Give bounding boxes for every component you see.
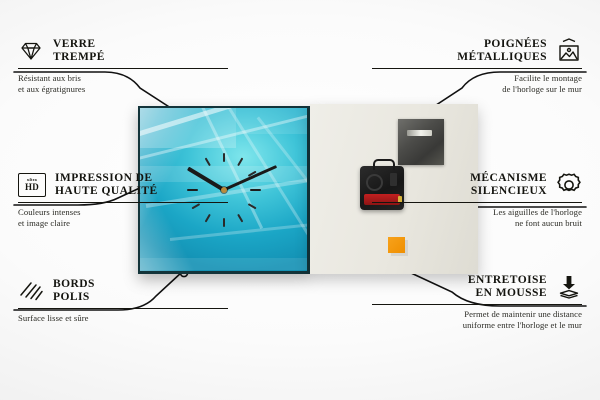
feature-verre-trempe: VERRE TREMPÉ Résistant aux bris et aux é… (18, 38, 228, 95)
feature-bords-polis: BORDS POLIS Surface lisse et sûre (18, 278, 228, 324)
movement-shaft (373, 159, 395, 170)
feature-title: BORDS POLIS (53, 278, 95, 304)
ultra-hd-icon: ultra HD (18, 173, 46, 197)
feature-divider (18, 308, 228, 309)
feature-title: POIGNÉES MÉTALLIQUES (457, 38, 547, 64)
feature-title: MÉCANISME SILENCIEUX (470, 172, 547, 198)
feature-entretoise-en-mousse: ENTRETOISE EN MOUSSE Permet de maintenir… (372, 274, 582, 331)
feature-description: Permet de maintenir une distance uniform… (372, 309, 582, 331)
foam-spacer-arrow-icon (556, 274, 582, 300)
feature-description: Les aiguilles de l'horloge ne font aucun… (372, 207, 582, 229)
feature-poignees-metalliques: POIGNÉES MÉTALLIQUES Facilite le montage… (372, 38, 582, 95)
feature-divider (18, 202, 228, 203)
feature-divider (372, 304, 582, 305)
feature-description: Résistant aux bris et aux égratignures (18, 73, 228, 95)
feature-impression-haute-qualite: ultra HD IMPRESSION DE HAUTE QUALITÉ Cou… (18, 172, 228, 229)
polished-edges-icon (18, 278, 44, 304)
feature-mecanisme-silencieux: MÉCANISME SILENCIEUX Les aiguilles de l'… (372, 172, 582, 229)
metal-hanger-plate (398, 119, 444, 165)
infographic-canvas: VERRE TREMPÉ Résistant aux bris et aux é… (0, 0, 600, 400)
wall-mount-frame-icon (556, 38, 582, 64)
ultra-hd-icon-main: HD (25, 183, 39, 192)
gear-icon (556, 172, 582, 198)
feature-description: Facilite le montage de l'horloge sur le … (372, 73, 582, 95)
foam-spacer (388, 237, 405, 253)
feature-divider (372, 68, 582, 69)
feature-title: IMPRESSION DE HAUTE QUALITÉ (55, 172, 158, 198)
feature-divider (372, 202, 582, 203)
diamond-icon (18, 38, 44, 64)
feature-title: VERRE TREMPÉ (53, 38, 105, 64)
feature-description: Couleurs intenses et image claire (18, 207, 228, 229)
feature-divider (18, 68, 228, 69)
feature-title: ENTRETOISE EN MOUSSE (468, 274, 547, 300)
feature-description: Surface lisse et sûre (18, 313, 228, 324)
hanger-slot (407, 130, 432, 136)
